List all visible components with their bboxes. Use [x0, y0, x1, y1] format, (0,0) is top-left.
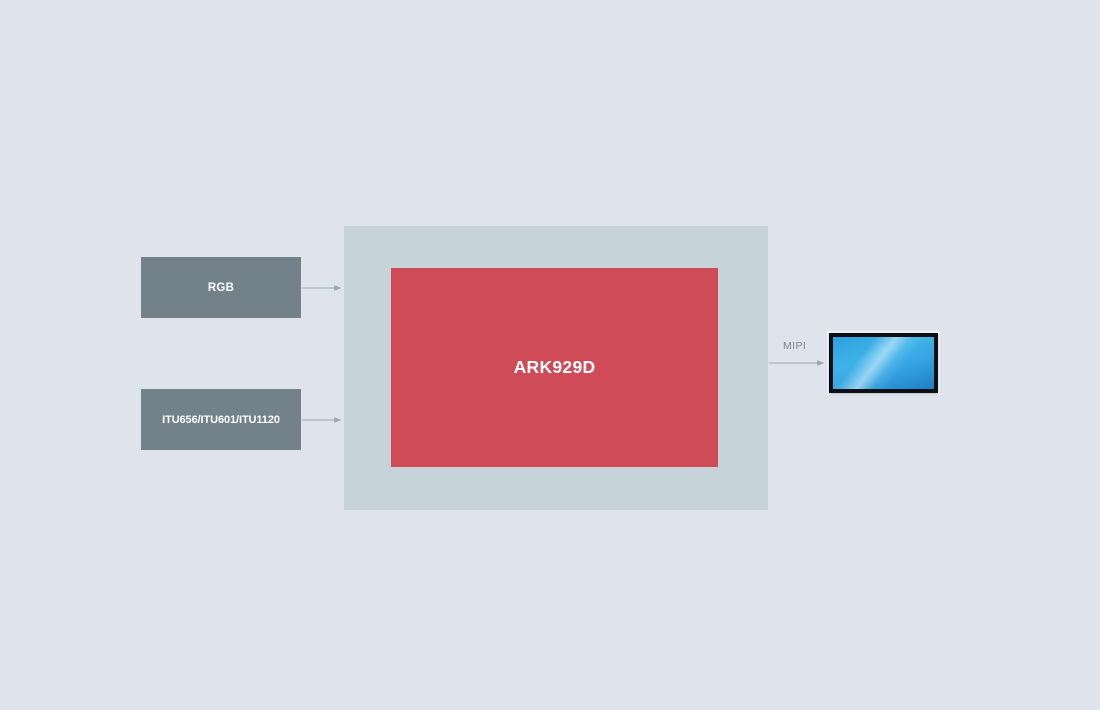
connector-label-mipi: MIPI	[783, 340, 806, 352]
monitor-screen	[833, 337, 934, 389]
input-block-rgb[interactable]: RGB	[141, 257, 301, 318]
chip-core-label: ARK929D	[514, 357, 596, 378]
block-diagram: RGB ITU656/ITU601/ITU1120 ARK929D MIPI	[0, 0, 1100, 710]
input-block-itu-label: ITU656/ITU601/ITU1120	[162, 414, 280, 426]
monitor-bezel	[829, 333, 938, 393]
display-monitor-icon	[827, 331, 940, 395]
input-block-rgb-label: RGB	[208, 282, 234, 294]
input-block-itu[interactable]: ITU656/ITU601/ITU1120	[141, 389, 301, 450]
chip-core-block[interactable]: ARK929D	[391, 268, 718, 467]
